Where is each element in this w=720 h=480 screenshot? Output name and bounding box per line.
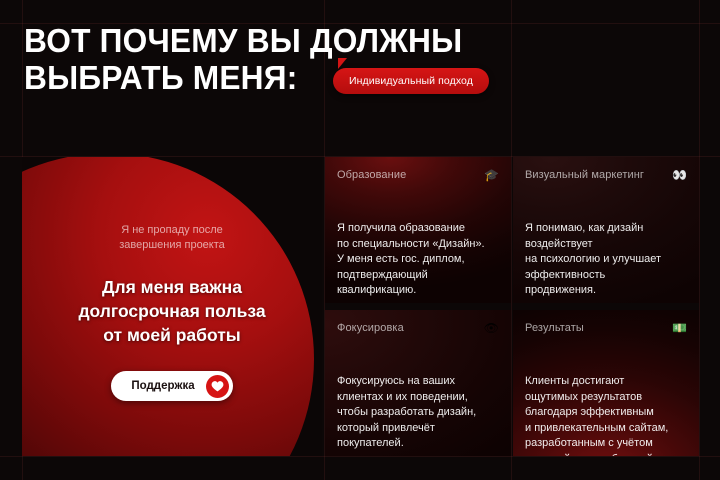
card-title: Результаты xyxy=(525,322,584,334)
badge-pointer-icon xyxy=(338,58,347,69)
grid-line-horizontal xyxy=(0,456,720,457)
card-header: Образование 🎓 xyxy=(337,167,499,183)
hero-content: Я не пропаду после завершения проекта Дл… xyxy=(22,157,322,456)
feature-card-results[interactable]: Результаты 💵 Клиенты достигают ощутимых … xyxy=(513,310,699,456)
card-header: Визуальный маркетинг 👀 xyxy=(525,167,687,183)
page-title-line-1: ВОТ ПОЧЕМУ ВЫ ДОЛЖНЫ xyxy=(24,22,562,59)
hero-title: Для меня важна долгосрочная польза от мо… xyxy=(78,275,265,347)
hero-kicker: Я не пропаду после завершения проекта xyxy=(119,223,225,253)
card-title: Визуальный маркетинг xyxy=(525,169,644,181)
heart-icon xyxy=(206,375,229,398)
promo-slide: ВОТ ПОЧЕМУ ВЫ ДОЛЖНЫ ВЫБРАТЬ МЕНЯ: Индив… xyxy=(0,0,720,480)
hero-panel: Я не пропаду после завершения проекта Дл… xyxy=(22,157,322,456)
eyes-icon: 👀 xyxy=(672,169,687,181)
card-body: Фокусируюсь на ваших клиентах и их повед… xyxy=(337,374,501,452)
approach-badge[interactable]: Индивидуальный подход xyxy=(333,68,489,94)
card-body: Клиенты достигают ощутимых результатов б… xyxy=(525,374,689,456)
card-body: Я получила образование по специальности … xyxy=(337,221,501,299)
eye-icon: 👁 xyxy=(484,322,499,334)
badge-label: Индивидуальный подход xyxy=(333,68,489,94)
support-button-label: Поддержка xyxy=(131,380,194,392)
grid-line-vertical xyxy=(699,0,700,480)
page-title: ВОТ ПОЧЕМУ ВЫ ДОЛЖНЫ ВЫБРАТЬ МЕНЯ: xyxy=(24,22,584,96)
card-header: Результаты 💵 xyxy=(525,320,687,336)
card-header: Фокусировка 👁 xyxy=(337,320,499,336)
card-title: Образование xyxy=(337,169,406,181)
banknote-icon: 💵 xyxy=(672,322,687,334)
feature-card-focus[interactable]: Фокусировка 👁 Фокусируюсь на ваших клиен… xyxy=(325,310,511,456)
graduation-cap-icon: 🎓 xyxy=(484,169,499,181)
feature-card-education[interactable]: Образование 🎓 Я получила образование по … xyxy=(325,157,511,303)
feature-card-visual-marketing[interactable]: Визуальный маркетинг 👀 Я понимаю, как ди… xyxy=(513,157,699,303)
card-body: Я понимаю, как дизайн воздействует на пс… xyxy=(525,221,689,299)
support-button[interactable]: Поддержка xyxy=(111,371,232,401)
feature-card-grid: Образование 🎓 Я получила образование по … xyxy=(325,157,699,456)
card-title: Фокусировка xyxy=(337,322,404,334)
